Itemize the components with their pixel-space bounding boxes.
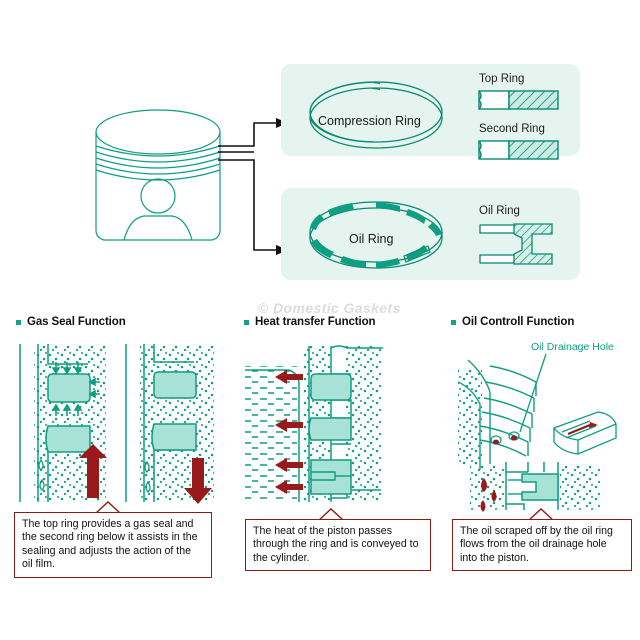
ring-block-top — [311, 374, 351, 400]
compression-ring-drawing — [296, 72, 456, 150]
heat-transfer-illustration — [243, 340, 439, 510]
gas-seal-illustration — [12, 340, 218, 508]
second-ring-title: Second Ring — [479, 123, 545, 135]
bullet-icon — [244, 320, 249, 325]
section-header-oil-control: Oil Controll Function — [451, 316, 574, 328]
compression-ring-label: Compression Ring — [318, 114, 421, 128]
section-header-gas-seal: Gas Seal Function — [16, 316, 126, 328]
oil-ring-label: Oil Ring — [349, 232, 393, 246]
section-title-heat-transfer: Heat transfer Function — [255, 316, 375, 328]
ring-block-oil — [311, 460, 351, 494]
oil-ring-section — [522, 474, 558, 500]
ring-block-second — [309, 418, 351, 440]
diagram-canvas: Compression Ring Top Ring Second Ring — [0, 0, 640, 640]
caption-heat-transfer: The heat of the piston passes through th… — [245, 519, 431, 571]
top-ring-title: Top Ring — [479, 73, 524, 85]
piston-illustration — [78, 100, 238, 260]
top-ring-cross-section — [478, 88, 560, 112]
section-header-heat-transfer: Heat transfer Function — [244, 316, 375, 328]
caption-gas-seal: The top ring provides a gas seal and the… — [14, 512, 212, 578]
oil-ring-xsec-title: Oil Ring — [479, 205, 520, 217]
caption-oil-control: The oil scraped off by the oil ring flow… — [452, 519, 632, 571]
bullet-icon — [451, 320, 456, 325]
section-title-gas-seal: Gas Seal Function — [27, 316, 126, 328]
oil-control-illustration — [450, 352, 640, 512]
second-ring-cross-section — [478, 138, 560, 162]
watermark: © Domestic Gaskets — [258, 300, 401, 316]
oil-ring-cross-section — [478, 220, 560, 268]
bullet-icon — [16, 320, 21, 325]
connector-lines — [218, 118, 290, 258]
section-title-oil-control: Oil Controll Function — [462, 316, 574, 328]
